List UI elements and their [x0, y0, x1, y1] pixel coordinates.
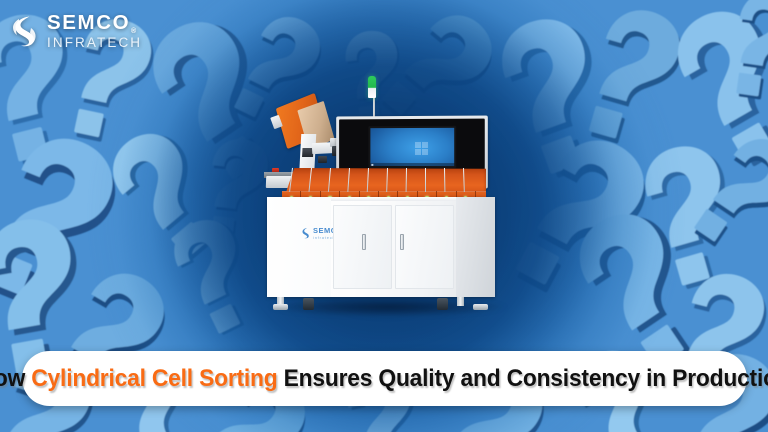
feeder-module-d — [318, 156, 327, 163]
cabinet-leg — [457, 297, 464, 306]
chute-divider — [425, 168, 426, 192]
banner-title-part2: Ensures Quality and Consistency in Produ… — [278, 365, 768, 392]
semco-swirl-logo-icon — [11, 14, 38, 48]
banner-title-part1: How — [0, 365, 32, 392]
leveling-foot — [273, 304, 288, 310]
machine-cabinet: SEMCO infratech — [267, 197, 495, 297]
cell-sorting-machine: SEMCO infratech — [258, 72, 518, 332]
caster-wheel — [437, 298, 448, 310]
cabinet-left-panel: SEMCO infratech — [267, 197, 331, 297]
monitor-screen[interactable] — [368, 126, 456, 168]
logo-subname: INFRATECH — [47, 36, 142, 50]
caster-wheel — [303, 298, 314, 310]
logo-trademark: ® — [131, 28, 136, 35]
windows-desktop-wallpaper — [370, 128, 454, 166]
cabinet-door-left[interactable] — [333, 205, 392, 289]
tower-light-green-icon — [368, 76, 376, 98]
banner-title: How Cylindrical Cell Sorting Ensures Qua… — [0, 365, 768, 393]
logo-wordmark: SEMCO® INFRATECH — [47, 12, 142, 49]
banner-title-highlight: Cylindrical Cell Sorting — [32, 365, 278, 392]
cabinet-right-panel — [456, 197, 495, 297]
leveling-foot — [473, 304, 488, 310]
title-banner: How Cylindrical Cell Sorting Ensures Qua… — [22, 351, 747, 406]
semco-swirl-logo-icon — [301, 227, 310, 239]
door-handle[interactable] — [362, 234, 366, 250]
door-handle[interactable] — [400, 234, 404, 250]
windows-logo-icon — [415, 142, 429, 155]
graphic-stage: SEMCO® INFRATECH — [0, 0, 768, 432]
cabinet-door-right[interactable] — [395, 205, 454, 289]
brand-logo: SEMCO® INFRATECH — [11, 12, 142, 49]
logo-name: SEMCO — [47, 13, 130, 34]
taskbar[interactable] — [370, 163, 454, 166]
